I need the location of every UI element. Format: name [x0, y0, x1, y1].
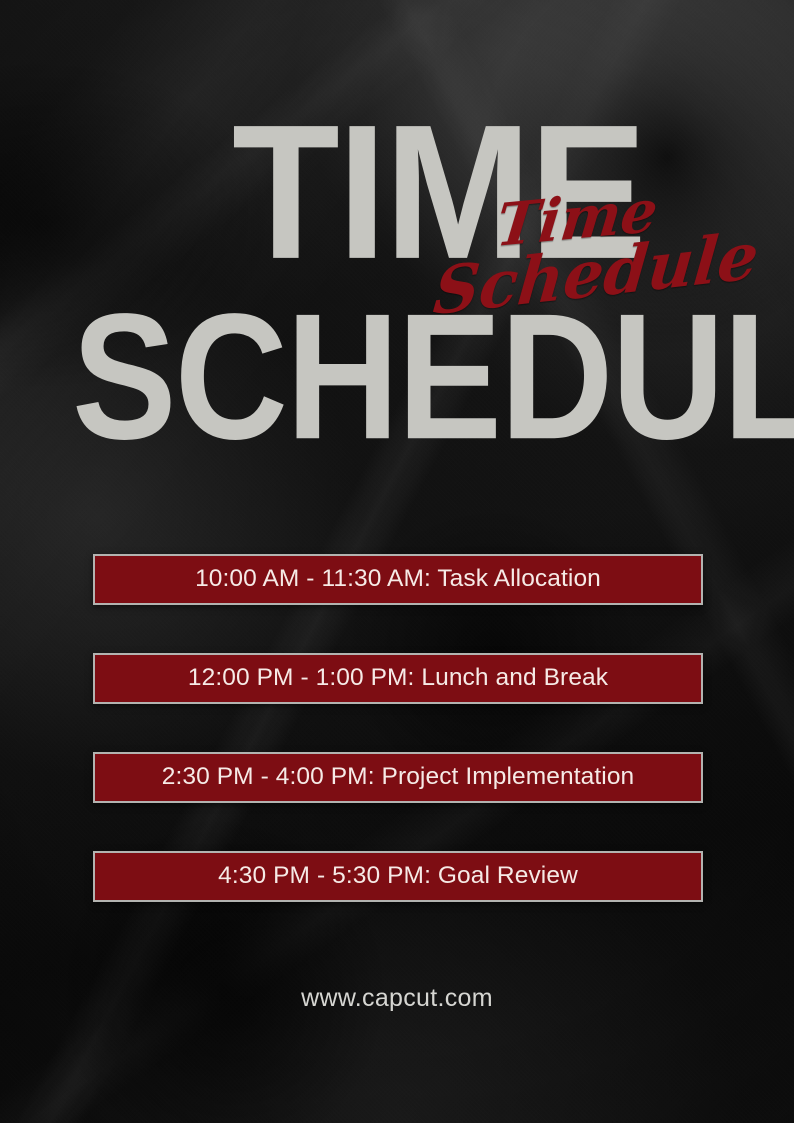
time-schedule-poster: TIME SCHEDULE Time Schedule 10:00 AM - 1… — [0, 0, 794, 1123]
schedule-row-text: 2:30 PM - 4:00 PM: Project Implementatio… — [162, 765, 635, 790]
schedule-row-text: 12:00 PM - 1:00 PM: Lunch and Break — [188, 666, 608, 691]
poster-title-block: TIME SCHEDULE Time Schedule — [0, 0, 794, 500]
schedule-list: 10:00 AM - 11:30 AM: Task Allocation 12:… — [93, 554, 703, 902]
schedule-row-text: 4:30 PM - 5:30 PM: Goal Review — [218, 864, 578, 889]
schedule-row[interactable]: 4:30 PM - 5:30 PM: Goal Review — [93, 851, 703, 902]
schedule-row[interactable]: 2:30 PM - 4:00 PM: Project Implementatio… — [93, 752, 703, 803]
footer-website-url[interactable]: www.capcut.com — [0, 986, 794, 1011]
schedule-row[interactable]: 12:00 PM - 1:00 PM: Lunch and Break — [93, 653, 703, 704]
schedule-row[interactable]: 10:00 AM - 11:30 AM: Task Allocation — [93, 554, 703, 605]
schedule-row-text: 10:00 AM - 11:30 AM: Task Allocation — [195, 567, 601, 592]
